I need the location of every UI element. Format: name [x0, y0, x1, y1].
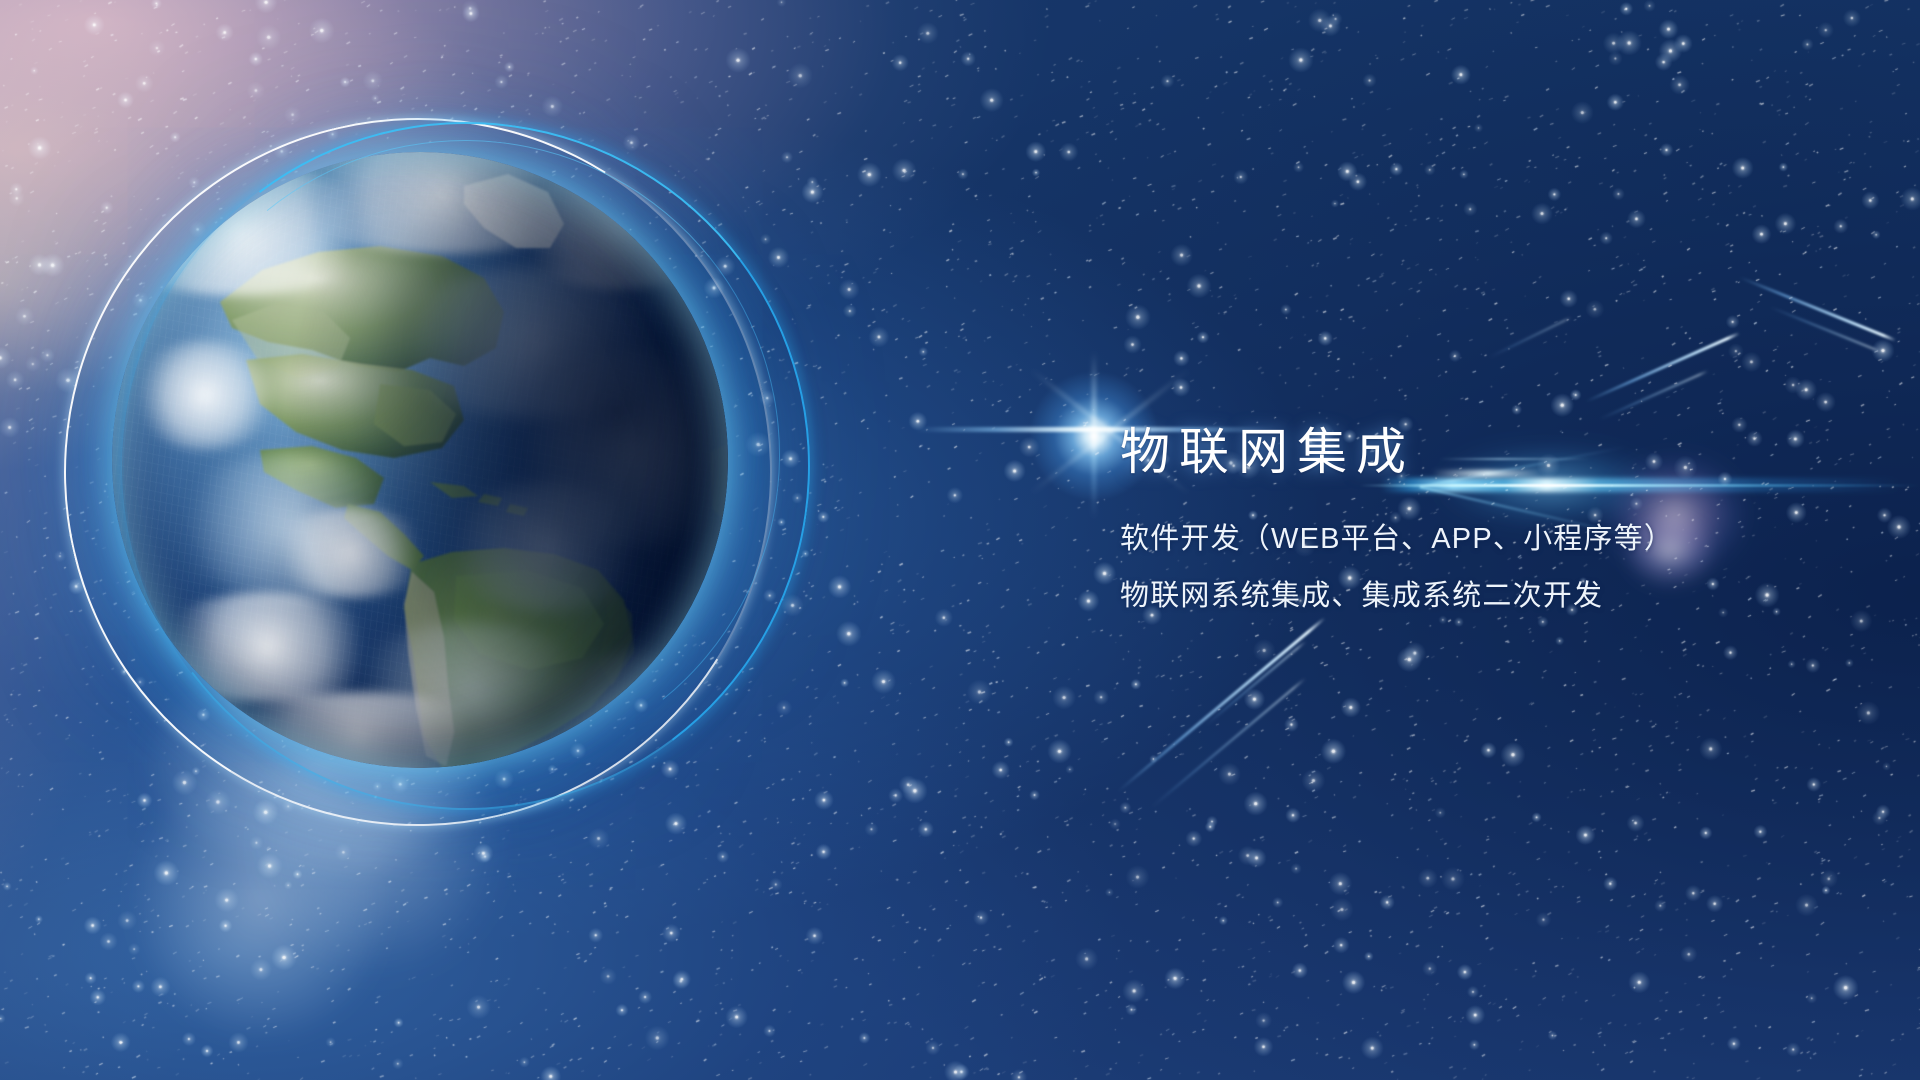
banner-copy: 物联网集成 软件开发（WEB平台、APP、小程序等） 物联网系统集成、集成系统二…	[1120, 424, 1820, 614]
meteor-streak	[1600, 370, 1709, 420]
banner-stage: 物联网集成 软件开发（WEB平台、APP、小程序等） 物联网系统集成、集成系统二…	[0, 0, 1920, 1080]
meteor-streak	[1205, 641, 1306, 726]
meteor-streak	[1739, 276, 1896, 342]
meteor-streak	[1585, 332, 1740, 403]
star-flare-vertical	[1092, 352, 1096, 518]
meteor-streak	[1490, 317, 1572, 358]
banner-subtitle-2: 物联网系统集成、集成系统二次开发	[1120, 579, 1820, 614]
meteor-streak	[1117, 617, 1326, 793]
banner-subtitle-1: 软件开发（WEB平台、APP、小程序等）	[1120, 522, 1820, 557]
banner-title: 物联网集成	[1120, 424, 1820, 480]
